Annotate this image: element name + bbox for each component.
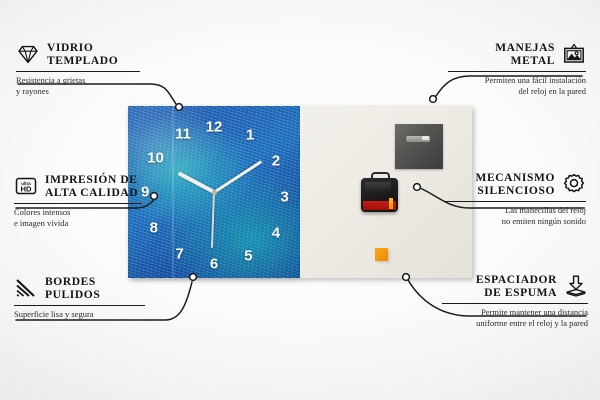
mechanism-highlight (365, 182, 391, 192)
foam-spacer-pad (375, 248, 388, 261)
callout-title: ESPACIADOR DE ESPUMA (438, 274, 557, 300)
clock-numeral-4: 4 (272, 226, 280, 241)
callout-divider (448, 71, 586, 72)
clock-numeral-10: 10 (147, 150, 164, 165)
callout-subtitle: Permiten una fácil instalación del reloj… (444, 75, 586, 96)
clock-numeral-11: 11 (175, 126, 191, 141)
callout-subtitle: Resistencia a grietas y rayones (16, 75, 156, 96)
clock-numeral-12: 12 (206, 119, 223, 134)
clock-numeral-1: 1 (246, 128, 254, 143)
callout-divider (14, 305, 145, 306)
clock-numeral-9: 9 (141, 185, 149, 200)
product-photo: 12 1 2 3 4 5 6 7 8 9 10 11 (128, 106, 472, 278)
diagonal-stripes-icon (14, 276, 38, 300)
clock-numeral-7: 7 (175, 246, 183, 261)
callout-impresion-alta-calidad: ultra HD IMPRESIÓN DE ALTA CALIDAD Color… (14, 174, 156, 228)
clock-minute-hand (213, 160, 262, 193)
callout-title: BORDES PULIDOS (45, 276, 100, 302)
clock-mechanism (361, 178, 398, 212)
callout-divider (16, 71, 140, 72)
clock-center-cap (212, 190, 217, 195)
infographic-stage: 12 1 2 3 4 5 6 7 8 9 10 11 (0, 0, 600, 400)
callout-bordes-pulidos: BORDES PULIDOS Superficie lisa y segura (14, 276, 159, 320)
callout-title: VIDRIO TEMPLADO (47, 42, 118, 68)
clock-numeral-6: 6 (210, 257, 218, 272)
hanger-slot (405, 135, 431, 143)
clock-hour-hand (178, 171, 215, 193)
callout-mecanismo-silencioso: MECANISMO SILENCIOSO Las manecillas del … (440, 172, 586, 226)
callout-vidrio-templado: VIDRIO TEMPLADO Resistencia a grietas y … (16, 42, 156, 96)
callout-subtitle: Permite mantener una distancia uniforme … (438, 307, 588, 328)
callout-subtitle: Superficie lisa y segura (14, 309, 159, 320)
framed-picture-icon (562, 42, 586, 66)
callout-divider (442, 303, 588, 304)
callout-divider (14, 203, 142, 204)
gear-icon (562, 172, 586, 196)
ultra-hd-icon: ultra HD (14, 174, 38, 198)
callout-divider (444, 201, 586, 202)
clock-numeral-2: 2 (272, 154, 280, 169)
metal-hanger-plate (395, 124, 443, 169)
mechanism-label (363, 201, 396, 210)
arrow-down-pad-icon (564, 274, 588, 298)
diamond-icon (16, 42, 40, 66)
callout-subtitle: Las manecillas del reloj no emiten ningú… (440, 205, 586, 226)
clock-second-hand (211, 190, 215, 248)
callout-espaciador-de-espuma: ESPACIADOR DE ESPUMA Permite mantener un… (438, 274, 588, 328)
callout-title: IMPRESIÓN DE ALTA CALIDAD (45, 174, 138, 200)
clock-numeral-5: 5 (244, 248, 252, 263)
svg-text:HD: HD (21, 185, 32, 194)
callout-title: MANEJAS METAL (444, 42, 555, 68)
connector-dot-manejas (430, 96, 437, 103)
callout-subtitle: Colores intensos e imagen vívida (14, 207, 156, 228)
mechanism-hanger-loop (371, 172, 390, 182)
clock-numeral-8: 8 (150, 221, 158, 236)
callout-title: MECANISMO SILENCIOSO (440, 172, 555, 198)
callout-manejas-metal: MANEJAS METAL Permiten una fácil instala… (444, 42, 586, 96)
clock-numeral-3: 3 (280, 190, 288, 205)
